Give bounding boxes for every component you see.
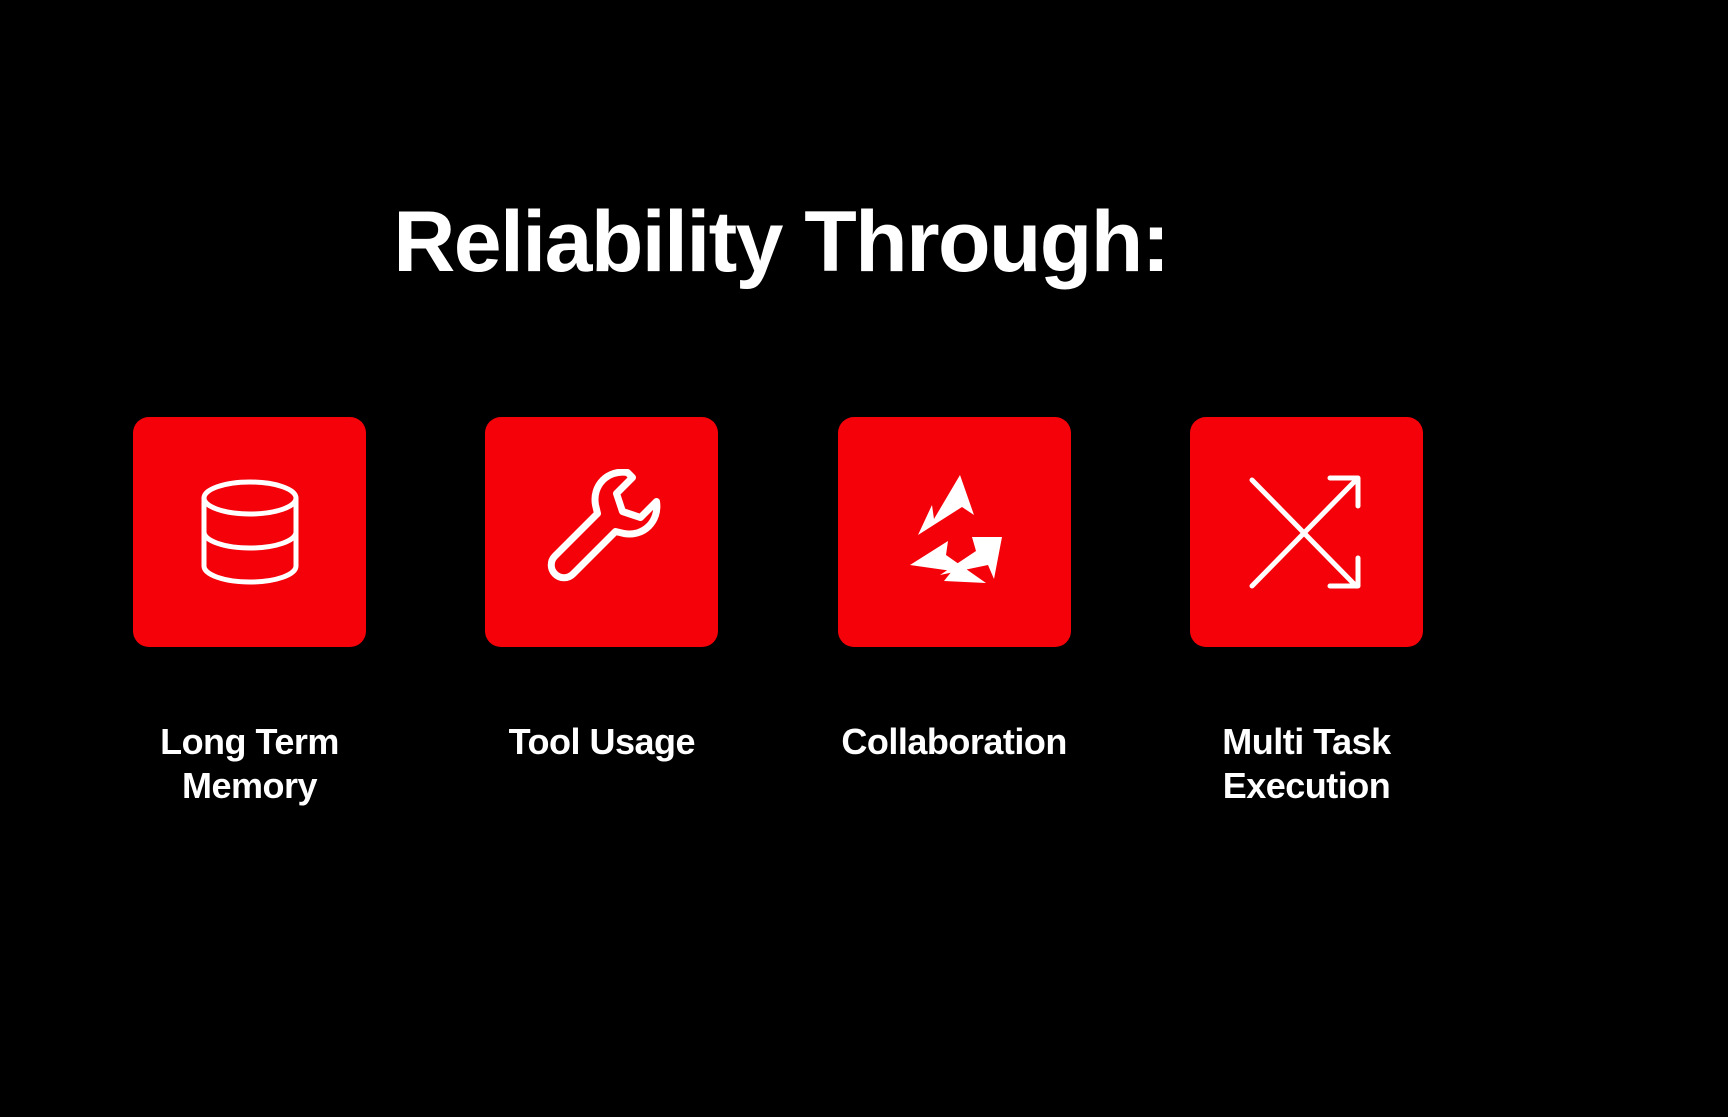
tile-label: Long Term Memory	[160, 720, 339, 808]
feature-tile-long-term-memory[interactable]: Long Term Memory	[133, 417, 366, 808]
icon-tile-background	[133, 417, 366, 647]
feature-tile-multi-task-execution[interactable]: Multi Task Execution	[1190, 417, 1423, 808]
database-icon	[190, 472, 310, 592]
feature-tile-row: Long Term Memory Tool Usage	[133, 417, 1423, 847]
tile-label: Collaboration	[841, 720, 1067, 764]
slide-root: Reliability Through: Long Term Memory	[0, 0, 1728, 1117]
tile-label: Tool Usage	[509, 720, 695, 764]
icon-tile-background	[485, 417, 718, 647]
tile-label: Multi Task Execution	[1222, 720, 1390, 808]
wrench-icon	[539, 469, 665, 595]
feature-tile-collaboration[interactable]: Collaboration	[838, 417, 1071, 764]
icon-tile-background	[1190, 417, 1423, 647]
cycle-arrows-icon	[890, 471, 1018, 593]
feature-tile-tool-usage[interactable]: Tool Usage	[485, 417, 718, 764]
page-title: Reliability Through:	[0, 199, 1562, 287]
icon-tile-background	[838, 417, 1071, 647]
shuffle-arrows-icon	[1244, 470, 1368, 594]
